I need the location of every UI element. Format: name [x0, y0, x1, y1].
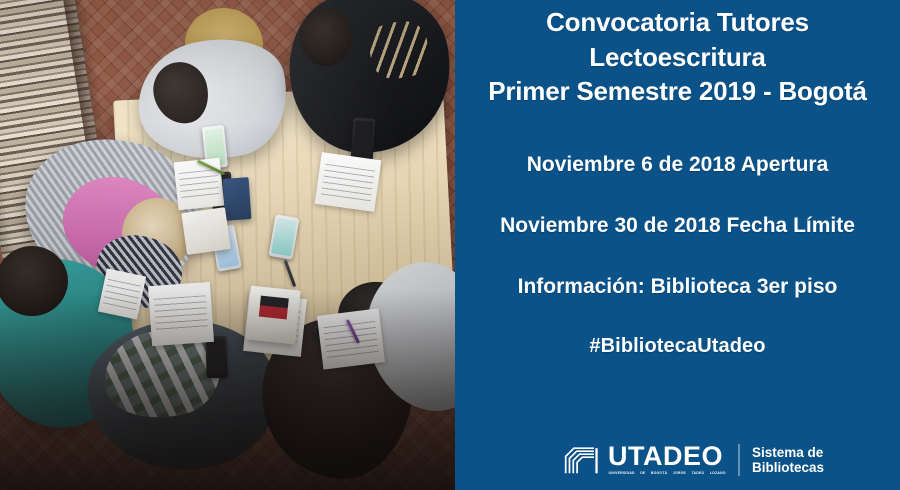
photo-shadow-gradient — [0, 290, 455, 490]
detail-informacion: Información: Biblioteca 3er piso — [459, 275, 896, 298]
utadeo-wordmark-text: UTADEO — [608, 444, 723, 470]
navy-notebook — [223, 177, 252, 221]
headline-line-2: Lectoescritura — [459, 40, 896, 75]
sistema-bibliotecas-line-2: Bibliotecas — [752, 460, 824, 475]
sistema-bibliotecas-line-1: Sistema de — [752, 445, 824, 460]
paper-sheet-top — [174, 158, 225, 211]
hashtag: #BibliotecaUtadeo — [589, 335, 765, 358]
headline: Convocatoria Tutores Lectoescritura Prim… — [459, 5, 896, 109]
person-black-jacket-head — [300, 8, 352, 66]
headline-line-3: Primer Semestre 2019 - Bogotá — [459, 74, 896, 109]
utadeo-wordmark: UTADEO UNIVERSIDAD DE BOGOTÁ JORGE TADEO… — [608, 444, 723, 476]
headline-line-1: Convocatoria Tutores — [459, 5, 896, 40]
utadeo-tagline: UNIVERSIDAD DE BOGOTÁ JORGE TADEO LOZANO — [608, 472, 725, 475]
detail-fecha-limite: Noviembre 30 de 2018 Fecha Límite — [459, 214, 896, 237]
utadeo-logo: UTADEO UNIVERSIDAD DE BOGOTÁ JORGE TADEO… — [563, 444, 824, 476]
utadeo-book-mark-icon — [563, 446, 599, 475]
logo-divider — [738, 444, 739, 476]
photo-panel — [0, 0, 455, 490]
paper-sheet-right — [315, 152, 382, 212]
details-block: Noviembre 6 de 2018 Apertura Noviembre 3… — [459, 153, 896, 298]
info-panel: Convocatoria Tutores Lectoescritura Prim… — [455, 0, 900, 490]
poster: Convocatoria Tutores Lectoescritura Prim… — [0, 0, 900, 490]
detail-apertura: Noviembre 6 de 2018 Apertura — [459, 153, 896, 176]
sistema-bibliotecas-label: Sistema de Bibliotecas — [752, 445, 824, 475]
open-book — [181, 207, 230, 255]
